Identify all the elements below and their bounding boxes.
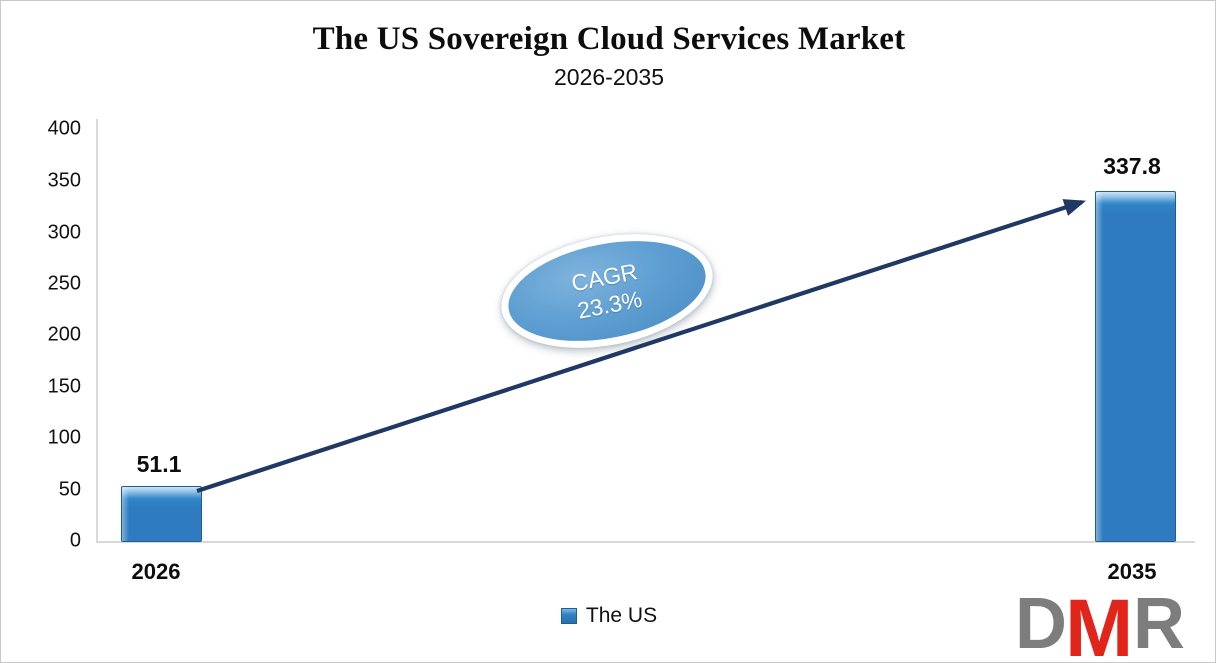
bar-2026[interactable] — [121, 486, 202, 542]
y-tick-400: 400 — [15, 118, 81, 141]
cagr-bubble: CAGR 23.3% — [492, 218, 723, 365]
y-tick-350: 350 — [15, 170, 81, 193]
data-label-2026: 51.1 — [137, 451, 182, 478]
x-axis-line — [97, 541, 1195, 543]
y-tick-0: 0 — [15, 530, 81, 553]
logo-letter-r: R — [1133, 584, 1184, 660]
cagr-bubble-text: CAGR 23.3% — [492, 218, 723, 365]
y-tick-150: 150 — [15, 376, 81, 399]
y-axis-tick-labels: 400 350 300 250 200 150 100 50 0 — [15, 1, 81, 663]
category-label-2035: 2035 — [1108, 559, 1157, 585]
dmr-logo: D R M — [1015, 584, 1207, 660]
legend-label-the-us: The US — [586, 604, 657, 628]
y-tick-200: 200 — [15, 324, 81, 347]
chart-subtitle: 2026-2035 — [1, 64, 1216, 91]
category-label-2026: 2026 — [132, 559, 181, 585]
logo-letter-m: M — [1065, 584, 1128, 660]
y-tick-250: 250 — [15, 273, 81, 296]
y-tick-50: 50 — [15, 479, 81, 502]
legend-swatch-the-us — [561, 608, 577, 624]
chart-container: The US Sovereign Cloud Services Market 2… — [0, 0, 1216, 663]
bar-2035[interactable] — [1095, 191, 1176, 542]
data-label-2035: 337.8 — [1103, 153, 1161, 180]
y-tick-100: 100 — [15, 427, 81, 450]
y-tick-300: 300 — [15, 222, 81, 245]
logo-letter-d: D — [1015, 584, 1064, 660]
chart-title: The US Sovereign Cloud Services Market — [1, 21, 1216, 58]
y-axis-line — [96, 119, 98, 543]
